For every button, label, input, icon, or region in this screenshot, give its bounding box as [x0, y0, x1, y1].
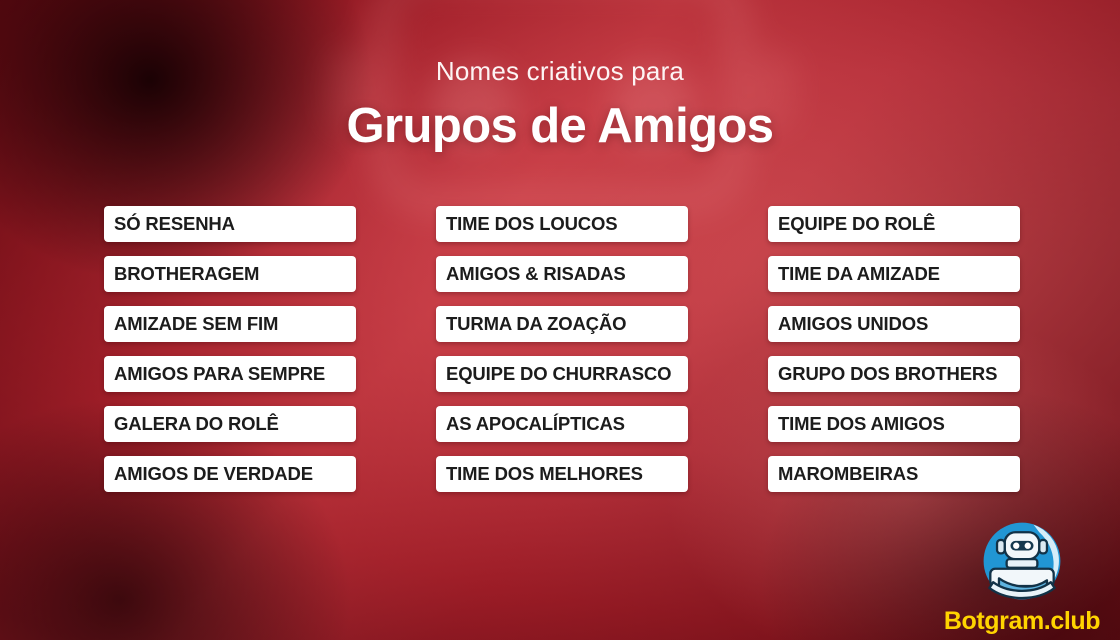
name-card-label: BROTHERAGEM — [114, 265, 259, 284]
name-card[interactable]: EQUIPE DO CHURRASCO — [436, 356, 688, 392]
name-card[interactable]: AMIGOS UNIDOS — [768, 306, 1020, 342]
name-card[interactable]: GRUPO DOS BROTHERS — [768, 356, 1020, 392]
robot-mascot-icon — [974, 515, 1070, 611]
brand-watermark[interactable]: Botgram.club — [936, 504, 1108, 634]
name-card-label: AMIGOS & RISADAS — [446, 265, 626, 284]
name-card-label: TURMA DA ZOAÇÃO — [446, 315, 626, 334]
name-card[interactable]: EQUIPE DO ROLÊ — [768, 206, 1020, 242]
name-card[interactable]: SÓ RESENHA — [104, 206, 356, 242]
name-card-label: AS APOCALÍPTICAS — [446, 415, 625, 434]
name-card[interactable]: AS APOCALÍPTICAS — [436, 406, 688, 442]
name-card[interactable]: BROTHERAGEM — [104, 256, 356, 292]
name-card-label: TIME DOS LOUCOS — [446, 215, 617, 234]
name-card[interactable]: TIME DOS LOUCOS — [436, 206, 688, 242]
name-card-label: SÓ RESENHA — [114, 215, 235, 234]
name-card-label: TIME DOS AMIGOS — [778, 415, 945, 434]
name-card-label: EQUIPE DO CHURRASCO — [446, 365, 671, 384]
name-card[interactable]: AMIGOS & RISADAS — [436, 256, 688, 292]
name-card-label: AMIGOS DE VERDADE — [114, 465, 313, 484]
name-card-label: AMIGOS PARA SEMPRE — [114, 365, 325, 384]
name-card-label: TIME DOS MELHORES — [446, 465, 643, 484]
name-card-label: TIME DA AMIZADE — [778, 265, 940, 284]
poster-canvas: Nomes criativos para Grupos de Amigos SÓ… — [0, 0, 1120, 640]
poster-subtitle: Nomes criativos para — [0, 58, 1120, 84]
poster-header: Nomes criativos para Grupos de Amigos — [0, 58, 1120, 151]
name-card[interactable]: TIME DOS AMIGOS — [768, 406, 1020, 442]
name-card[interactable]: GALERA DO ROLÊ — [104, 406, 356, 442]
brand-name: Botgram.club — [944, 609, 1100, 634]
name-card-label: AMIZADE SEM FIM — [114, 315, 278, 334]
name-card-label: EQUIPE DO ROLÊ — [778, 215, 935, 234]
name-card[interactable]: AMIGOS PARA SEMPRE — [104, 356, 356, 392]
name-card[interactable]: TIME DOS MELHORES — [436, 456, 688, 492]
name-card-grid: SÓ RESENHA TIME DOS LOUCOS EQUIPE DO ROL… — [104, 206, 1020, 492]
name-card-label: AMIGOS UNIDOS — [778, 315, 928, 334]
name-card[interactable]: AMIGOS DE VERDADE — [104, 456, 356, 492]
name-card-label: GRUPO DOS BROTHERS — [778, 365, 997, 384]
name-card[interactable]: TURMA DA ZOAÇÃO — [436, 306, 688, 342]
name-card[interactable]: MAROMBEIRAS — [768, 456, 1020, 492]
poster-title: Grupos de Amigos — [0, 102, 1120, 151]
name-card-label: MAROMBEIRAS — [778, 465, 918, 484]
name-card[interactable]: AMIZADE SEM FIM — [104, 306, 356, 342]
name-card-label: GALERA DO ROLÊ — [114, 415, 279, 434]
name-card[interactable]: TIME DA AMIZADE — [768, 256, 1020, 292]
